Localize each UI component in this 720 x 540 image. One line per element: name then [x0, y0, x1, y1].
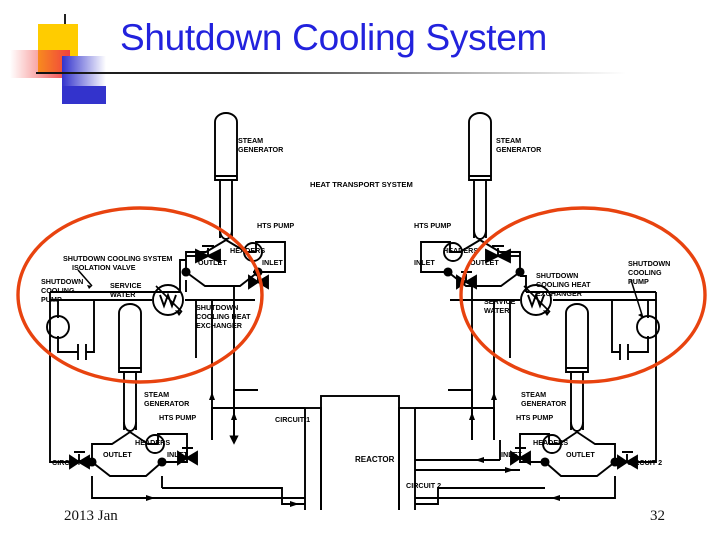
shutdown-cooling-pump-label-right-2: COOLING	[628, 268, 662, 277]
headers-label-bottom-right: HEADERS	[533, 438, 568, 447]
page-title: Shutdown Cooling System	[120, 17, 660, 59]
headers-label-top-right: HEADERS	[443, 246, 478, 255]
steam-generator-top-right-label-1: STEAM	[496, 136, 521, 145]
service-water-label-left-1: SERVICE	[110, 281, 142, 290]
flow-arrows-left	[209, 392, 237, 420]
hts-pump-label-top-left: HTS PUMP	[257, 221, 294, 230]
service-water-label-right-2: WATER	[484, 306, 510, 315]
headers-label-bottom-left: HEADERS	[135, 438, 170, 447]
heat-exchanger-label-right-3: EXCHANGER	[536, 289, 583, 298]
steam-generator-top-left-label-2: GENERATOR	[238, 145, 284, 154]
reactor-label: REACTOR	[355, 455, 395, 464]
deco-blue-fade	[62, 56, 106, 86]
shutdown-cooling-pump-label-left-1: SHUTDOWN	[41, 277, 83, 286]
right-highlight-circle	[461, 208, 705, 382]
service-water-label-right-1: SERVICE	[484, 297, 516, 306]
outlet-label-bottom-right: OUTLET	[566, 450, 595, 459]
heat-exchanger-label-left-3: EXCHANGER	[196, 321, 243, 330]
steam-generator-top-right-label-2: GENERATOR	[496, 145, 542, 154]
circuit-1-label-left: CIRCUIT 1	[52, 458, 87, 467]
flow-arrows-right	[469, 392, 497, 420]
shutdown-cooling-system-diagram: STEAM GENERATOR STEAM GENERATOR STEAM GE…	[0, 100, 720, 510]
steam-generator-bottom-left-label-2: GENERATOR	[144, 399, 190, 408]
isolation-valve-label-1: SHUTDOWN COOLING SYSTEM	[63, 254, 172, 263]
reactor-vessel	[305, 396, 415, 510]
slide-canvas: Shutdown Cooling System	[0, 0, 720, 540]
inlet-label-bottom-right: INLET	[501, 450, 522, 459]
shutdown-cooling-pump-label-right-3: PUMP	[628, 277, 649, 286]
circuit-1-label-right: CIRCUIT 1	[275, 415, 310, 424]
shutdown-cooling-heat-exchanger-left	[153, 285, 183, 316]
steam-generator-top-left-label-1: STEAM	[238, 136, 263, 145]
flow-arrows-bottom	[146, 495, 560, 507]
heat-exchanger-label-left-1: SHUTDOWN	[196, 303, 238, 312]
steam-generator-bottom-right	[566, 304, 588, 431]
title-underline	[36, 72, 626, 74]
shutdown-cooling-pump-label-left-2: COOLING	[41, 286, 75, 295]
steam-generator-bottom-right-label-2: GENERATOR	[521, 399, 567, 408]
inlet-label-top-left: INLET	[262, 258, 283, 267]
shutdown-cooling-pump-label-right-1: SHUTDOWN	[628, 259, 670, 268]
footer-date: 2013 Jan	[64, 508, 118, 525]
heat-exchanger-label-left-2: COOLING HEAT	[196, 312, 251, 321]
inlet-label-bottom-left: INLET	[167, 450, 188, 459]
steam-generator-top-left	[215, 113, 237, 239]
circuit-2-label-right: CIRCUIT 2	[627, 458, 662, 467]
bottom-crossover	[162, 440, 545, 504]
steam-generator-top-right	[469, 113, 491, 239]
hts-pump-label-bottom-left: HTS PUMP	[159, 413, 196, 422]
hts-pump-label-top-right: HTS PUMP	[414, 221, 451, 230]
service-water-label-left-2: WATER	[110, 290, 136, 299]
heat-exchanger-label-right-2: COOLING HEAT	[536, 280, 591, 289]
outlet-label-top-right: OUTLET	[470, 258, 499, 267]
shutdown-cooling-pump-label-left-3: PUMP	[41, 295, 62, 304]
hts-pump-label-bottom-right: HTS PUMP	[516, 413, 553, 422]
title-decoration	[0, 6, 130, 106]
inlet-label-top-right: INLET	[414, 258, 435, 267]
outlet-label-top-left: OUTLET	[198, 258, 227, 267]
footer-page-number: 32	[650, 508, 665, 525]
heat-exchanger-label-right-1: SHUTDOWN	[536, 271, 578, 280]
heat-transport-system-label: HEAT TRANSPORT SYSTEM	[310, 180, 413, 189]
steam-generator-bottom-left	[119, 304, 141, 431]
steam-generator-bottom-right-label-1: STEAM	[521, 390, 546, 399]
isolation-valve-label-2: ISOLATION VALVE	[72, 263, 136, 272]
steam-generator-bottom-left-label-1: STEAM	[144, 390, 169, 399]
outlet-label-bottom-left: OUTLET	[103, 450, 132, 459]
circuit-2-label-left: CIRCUIT 2	[406, 481, 441, 490]
